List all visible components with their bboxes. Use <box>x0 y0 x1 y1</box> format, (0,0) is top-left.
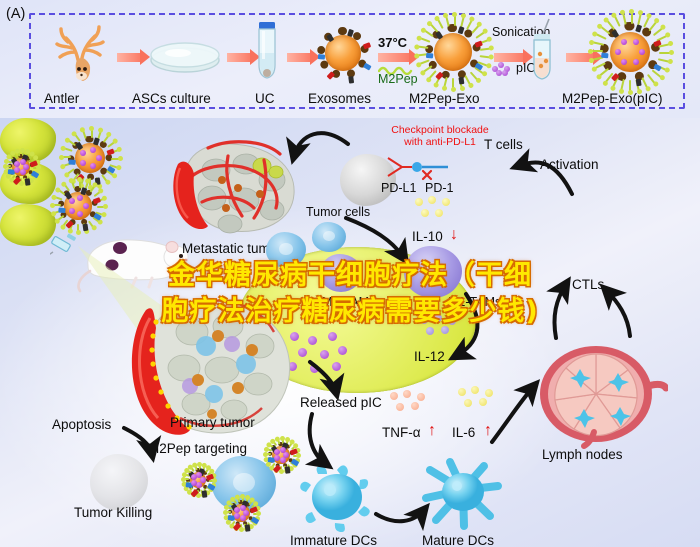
label-ctls: CTLs <box>572 278 604 293</box>
panel-a-step-label-asc: ASCs culture <box>132 92 211 107</box>
m2pep-spike <box>454 15 456 26</box>
membrane-protein <box>245 524 251 532</box>
process-arrow-4 <box>378 53 410 62</box>
label-pd-l1: PD-L1 <box>381 182 416 196</box>
pic-dot-cluster <box>492 62 512 76</box>
exosome-membrane <box>68 136 112 180</box>
m2pep-spike <box>226 511 231 513</box>
label-lymph-nodes: Lymph nodes <box>542 448 623 463</box>
pic-cargo <box>80 150 86 156</box>
panel-a-step-label-antler: Antler <box>44 92 79 107</box>
panel-b: Metastatic tumor Tumor cells Checkpoint … <box>0 118 700 547</box>
pic-cargo <box>69 208 75 214</box>
pic-cargo <box>14 161 20 167</box>
m2pep-spike <box>6 165 11 167</box>
pic-cargo <box>274 455 280 461</box>
pic-cargo <box>240 515 246 521</box>
m2pep-spike <box>631 12 633 24</box>
panel-a-step-label-exosomes: Exosomes <box>308 92 371 107</box>
targeting-exosome-1-icon <box>268 442 294 468</box>
membrane-protein <box>68 159 75 165</box>
checkpoint-line1: Checkpoint blockade <box>391 124 488 136</box>
process-arrow-3 <box>287 53 311 62</box>
m2-tam-cell-1 <box>404 246 462 298</box>
m2pep-spike <box>107 141 115 148</box>
centrifuge-tube-icon <box>253 21 281 81</box>
membrane-protein <box>202 490 208 498</box>
pic-cargo <box>274 449 280 455</box>
label-il6: IL-6 <box>452 426 475 441</box>
m2pep-spike <box>53 204 61 206</box>
m1-tam-cell-2 <box>312 222 346 252</box>
m2pep-spike <box>62 156 71 158</box>
membrane-protein <box>93 197 101 204</box>
il12-trend-arrow: ↑ <box>452 346 460 364</box>
label-pd-1: PD-1 <box>425 182 453 196</box>
m2pep-spike <box>33 167 38 169</box>
targeting-exosome-2-icon <box>186 468 210 492</box>
m2pep-spike <box>591 50 603 52</box>
m2pep-spike <box>471 24 480 34</box>
label-m2-tams: M2-TAMs <box>322 296 375 310</box>
exosome-membrane <box>317 27 369 79</box>
mature-dc-illustration <box>420 454 506 534</box>
m2pep-annotation: M2Pep <box>378 73 418 87</box>
m2pep-spike <box>184 478 189 480</box>
m2pep-spike <box>209 480 214 482</box>
pic-cargo <box>69 198 75 204</box>
pic-cargo <box>20 159 26 165</box>
sonicator-tube-icon <box>528 18 558 82</box>
label-il10: IL-10 <box>412 230 443 245</box>
m2pep-spike <box>103 135 110 143</box>
targeting-exosome-3-icon <box>228 500 254 526</box>
pic-cargo <box>621 39 627 45</box>
panel-a-letter: (A) <box>6 6 25 22</box>
pic-cargo <box>191 480 197 486</box>
il12-cytokine-cluster <box>420 314 466 340</box>
checkpoint-line2: with anti-PD-L1 <box>404 136 476 148</box>
pic-cargo <box>633 39 639 45</box>
peptide-squiggle-icon <box>378 62 414 72</box>
label-released-pic: Released pIC <box>300 396 382 411</box>
t-cell-3 <box>0 204 56 246</box>
deer-antler-icon <box>48 24 126 82</box>
label-activation: Activation <box>540 158 599 173</box>
label-primary-tumor: Primary tumor <box>170 416 255 431</box>
panel-a-step-label-m2pepexo: M2Pep-Exo <box>409 92 480 107</box>
il10-trend-arrow: ↓ <box>450 226 458 244</box>
m2pep-spike <box>470 71 479 81</box>
m2-tam-cell-2 <box>320 254 362 292</box>
membrane-protein <box>285 466 291 474</box>
pic-cargo <box>280 447 286 453</box>
membrane-protein <box>458 77 464 85</box>
m2pep-spike <box>91 129 93 138</box>
label-t-cells: T cells <box>484 138 523 153</box>
label-apoptosis: Apoptosis <box>52 418 111 433</box>
lymph-node-illustration <box>528 340 668 452</box>
membrane-protein <box>636 79 642 87</box>
pic-cargo <box>14 167 20 173</box>
label-m2pep-targeting: M2Pep targeting <box>148 442 247 457</box>
m2pep-spike <box>266 453 271 455</box>
pic-cargo <box>240 505 246 511</box>
pic-loaded-exosome-icon <box>600 22 660 82</box>
m2pep-spike <box>253 513 258 515</box>
label-mature-dcs: Mature DCs <box>422 534 494 547</box>
tnfa-cytokine-cluster <box>390 390 434 416</box>
pic-cargo <box>96 155 102 161</box>
pic-cargo <box>234 507 240 513</box>
figure-canvas: (A) Antler <box>0 0 700 547</box>
m2pep-spike <box>94 191 102 197</box>
process-arrow-1 <box>117 53 141 62</box>
label-il12: IL-12 <box>414 350 445 365</box>
process-arrow-2 <box>227 53 251 62</box>
m2pep-spike <box>452 78 454 89</box>
membrane-protein <box>106 148 114 155</box>
exosome-icon <box>317 27 369 79</box>
il6-cytokine-cluster <box>458 386 502 412</box>
exosome-free-1-icon <box>68 136 112 180</box>
membrane-protein <box>58 208 65 214</box>
label-tumor-cells: Tumor cells <box>306 206 370 220</box>
pic-cargo <box>90 147 96 153</box>
il6-trend-arrow: ↑ <box>484 422 492 440</box>
immature-dc-illustration <box>300 462 374 532</box>
metastatic-tumor-illustration <box>168 136 320 240</box>
tnfa-trend-arrow: ↑ <box>428 422 436 440</box>
membrane-protein <box>348 76 354 84</box>
label-m1-tams: M1-TAMs <box>448 296 501 310</box>
label-tumor-killing: Tumor Killing <box>74 506 152 521</box>
panel-a: (A) Antler <box>0 0 700 118</box>
m2pep-spike <box>97 206 105 208</box>
pic-cargo <box>83 203 89 209</box>
pic-cargo <box>234 513 240 519</box>
pic-cargo <box>639 49 645 55</box>
pic-cargo <box>20 169 26 175</box>
il10-cytokine-cluster <box>415 196 459 222</box>
panel-a-step-label-uc: UC <box>255 92 275 107</box>
m2pep-spike <box>293 455 298 457</box>
membrane-protein <box>25 178 31 186</box>
m2pep-spike <box>659 52 671 54</box>
m2pep-spike <box>79 180 81 188</box>
peptide-exosome-icon <box>425 24 481 80</box>
membrane-protein <box>318 54 325 60</box>
m1-tam-cell-1 <box>266 232 306 268</box>
m2pep-spike <box>111 158 120 160</box>
exosome-free-3-icon <box>8 154 34 180</box>
m2pep-spike <box>90 185 96 193</box>
m2pep-spike <box>648 21 657 32</box>
label-tnf-alpha: TNF-α <box>382 426 421 441</box>
pic-cargo <box>615 49 621 55</box>
m2pep-spike <box>101 174 108 182</box>
label-immature-dcs: Immature DCs <box>290 534 377 547</box>
pd-interaction-diagram <box>386 154 482 182</box>
membrane-protein <box>426 53 433 59</box>
pic-cargo <box>280 457 286 463</box>
panel-a-step-label-m2pepexopic: M2Pep-Exo(pIC) <box>562 92 663 107</box>
exosome-free-2-icon <box>58 186 98 226</box>
petri-dish-icon <box>148 40 222 74</box>
apoptotic-tumor-cell <box>90 454 148 510</box>
temperature-annotation: 37°C <box>378 36 407 50</box>
membrane-protein <box>601 53 608 59</box>
